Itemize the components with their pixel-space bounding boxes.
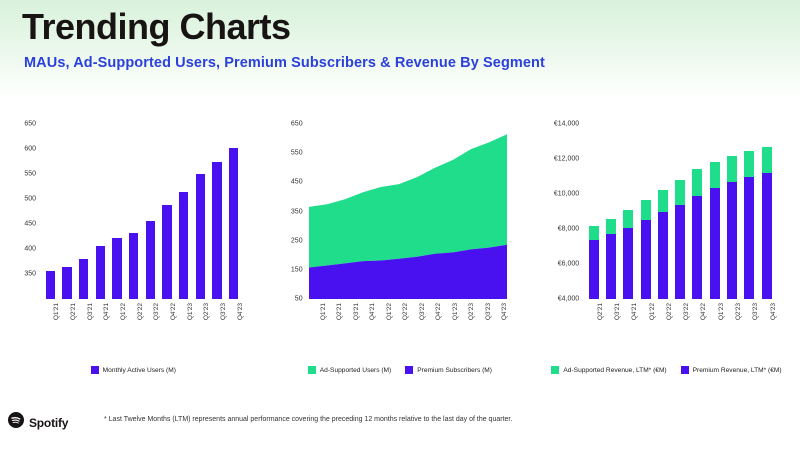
x-axis-tick-label: Q4'21	[369, 303, 376, 320]
bar	[162, 205, 172, 300]
bar-segment-ad-supported	[641, 200, 651, 220]
legend-swatch-icon	[405, 366, 413, 374]
bar	[46, 271, 56, 299]
slide-root: Trending Charts MAUs, Ad-Supported Users…	[0, 0, 800, 450]
bar	[212, 162, 222, 299]
x-axis-tick-label: Q2'23	[735, 303, 742, 320]
legend-label: Ad-Supported Revenue, LTM* (€M)	[563, 367, 666, 374]
bar-segment-ad-supported	[589, 226, 599, 241]
legend-item-ad-supported-revenue[interactable]: Ad-Supported Revenue, LTM* (€M)	[551, 366, 666, 374]
legend-swatch-icon	[551, 366, 559, 374]
charts-row: 350400450500550600650Q1'21Q2'21Q3'21Q4'2…	[0, 110, 800, 380]
plot-area-users-split: 50150250350450550650Q1'21Q2'21Q3'21Q4'21…	[309, 124, 507, 299]
x-axis-tick-label: Q3'21	[353, 303, 360, 320]
bar-segment-ad-supported	[744, 151, 754, 177]
y-axis-tick-label: 450	[0, 221, 36, 228]
bar-segment-ad-supported	[762, 147, 772, 174]
y-axis-tick-label: €8,000	[531, 226, 579, 233]
y-axis-tick-label: €12,000	[531, 156, 579, 163]
bar-segment-premium	[710, 188, 720, 299]
x-axis-tick-label: Q3'21	[87, 303, 94, 320]
chart-panel-users-split: 50150250350450550650Q1'21Q2'21Q3'21Q4'21…	[267, 110, 534, 380]
legend-revenue: Ad-Supported Revenue, LTM* (€M) Premium …	[533, 366, 800, 374]
bar-segment-premium	[762, 173, 772, 299]
bar-segment-ad-supported	[623, 210, 633, 228]
y-axis-tick-label: 450	[255, 179, 303, 186]
legend-item-premium-subscribers[interactable]: Premium Subscribers (M)	[405, 366, 492, 374]
x-axis-tick-label: Q3'21	[614, 303, 621, 320]
bar-segment-premium	[744, 177, 754, 299]
y-axis-tick-label: 50	[255, 296, 303, 303]
legend-label: Premium Revenue, LTM* (€M)	[693, 367, 782, 374]
bar-segment-ad-supported	[675, 180, 685, 205]
brand-lockup: Spotify	[8, 412, 68, 433]
y-axis-tick-label: €4,000	[531, 296, 579, 303]
bar-segment-premium	[606, 234, 616, 299]
legend-label: Premium Subscribers (M)	[417, 367, 492, 374]
y-axis-tick-label: 150	[255, 266, 303, 273]
x-axis-tick-label: Q3'23	[752, 303, 759, 320]
x-axis-tick-label: Q3'23	[485, 303, 492, 320]
legend-users-split: Ad-Supported Users (M) Premium Subscribe…	[267, 366, 534, 374]
bar-segment-ad-supported	[710, 162, 720, 188]
bar-segment-premium	[589, 240, 599, 299]
y-axis-tick-label: €10,000	[531, 191, 579, 198]
y-axis-tick-label: €14,000	[531, 121, 579, 128]
bar	[62, 267, 72, 300]
bar	[146, 221, 156, 299]
bar-segment-ad-supported	[606, 219, 616, 235]
bar	[229, 148, 239, 299]
legend-item-premium-revenue[interactable]: Premium Revenue, LTM* (€M)	[681, 366, 782, 374]
legend-swatch-icon	[681, 366, 689, 374]
plot-area-revenue: €4,000€6,000€8,000€10,000€12,000€14,000Q…	[585, 124, 775, 299]
x-axis-tick-label: Q1'22	[120, 303, 127, 320]
y-axis-tick-label: 650	[255, 121, 303, 128]
x-axis-tick-label: Q2'23	[468, 303, 475, 320]
x-axis-tick-label: Q4'22	[435, 303, 442, 320]
bar	[112, 238, 122, 299]
chart-panel-revenue: €4,000€6,000€8,000€10,000€12,000€14,000Q…	[533, 110, 800, 380]
chart-panel-mau: 350400450500550600650Q1'21Q2'21Q3'21Q4'2…	[0, 110, 267, 380]
bar	[196, 174, 206, 300]
x-axis-tick-label: Q3'22	[153, 303, 160, 320]
x-axis-tick-label: Q4'22	[700, 303, 707, 320]
x-axis-tick-label: Q4'23	[237, 303, 244, 320]
y-axis-tick-label: 550	[0, 171, 36, 178]
x-axis-tick-label: Q2'22	[666, 303, 673, 320]
x-axis-tick-label: Q1'23	[452, 303, 459, 320]
bar-segment-premium	[658, 212, 668, 299]
legend-mau: Monthly Active Users (M)	[0, 366, 267, 374]
x-axis-tick-label: Q1'23	[187, 303, 194, 320]
legend-swatch-icon	[308, 366, 316, 374]
x-axis-tick-label: Q2'22	[137, 303, 144, 320]
x-axis-tick-label: Q2'21	[597, 303, 604, 320]
bar-segment-premium	[623, 228, 633, 299]
legend-swatch-icon	[91, 366, 99, 374]
y-axis-tick-label: 350	[255, 208, 303, 215]
page-title: Trending Charts	[22, 6, 291, 48]
bar-segment-premium	[692, 196, 702, 299]
x-axis-tick-label: Q4'21	[631, 303, 638, 320]
bar-segment-ad-supported	[692, 169, 702, 196]
bar-segment-ad-supported	[727, 156, 737, 181]
x-axis-tick-label: Q2'22	[402, 303, 409, 320]
bar-segment-premium	[727, 182, 737, 299]
page-subtitle: MAUs, Ad-Supported Users, Premium Subscr…	[24, 55, 545, 71]
x-axis-tick-label: Q4'23	[770, 303, 777, 320]
x-axis-tick-label: Q2'21	[70, 303, 77, 320]
footnote-text: * Last Twelve Months (LTM) represents an…	[104, 416, 512, 423]
x-axis-tick-label: Q2'21	[336, 303, 343, 320]
y-axis-tick-label: €6,000	[531, 261, 579, 268]
slide-footer: Spotify * Last Twelve Months (LTM) repre…	[0, 394, 800, 450]
y-axis-tick-label: 500	[0, 196, 36, 203]
x-axis-tick-label: Q3'22	[683, 303, 690, 320]
bar-segment-premium	[675, 205, 685, 299]
legend-label: Monthly Active Users (M)	[103, 367, 176, 374]
bar-segment-ad-supported	[658, 190, 668, 212]
x-axis-tick-label: Q4'23	[501, 303, 508, 320]
x-axis-tick-label: Q2'23	[203, 303, 210, 320]
slide-header: Trending Charts MAUs, Ad-Supported Users…	[0, 0, 800, 100]
bar	[179, 192, 189, 300]
legend-item-ad-supported-users[interactable]: Ad-Supported Users (M)	[308, 366, 391, 374]
x-axis-tick-label: Q1'22	[386, 303, 393, 320]
y-axis-tick-label: 600	[0, 146, 36, 153]
legend-label: Ad-Supported Users (M)	[320, 367, 391, 374]
bar	[129, 233, 139, 300]
y-axis-tick-label: 550	[255, 150, 303, 157]
x-axis-tick-label: Q3'23	[220, 303, 227, 320]
bar	[96, 246, 106, 299]
plot-area-mau: 350400450500550600650Q1'21Q2'21Q3'21Q4'2…	[42, 124, 242, 299]
x-axis-tick-label: Q4'22	[170, 303, 177, 320]
y-axis-tick-label: 350	[0, 271, 36, 278]
stacked-area-svg	[309, 124, 507, 299]
legend-item-monthly-active-users[interactable]: Monthly Active Users (M)	[91, 366, 176, 374]
x-axis-tick-label: Q1'21	[53, 303, 60, 320]
area-ad-supported	[309, 134, 507, 267]
y-axis-tick-label: 650	[0, 121, 36, 128]
y-axis-tick-label: 250	[255, 237, 303, 244]
x-axis-tick-label: Q1'21	[320, 303, 327, 320]
x-axis-tick-label: Q4'21	[103, 303, 110, 320]
brand-name: Spotify	[29, 416, 68, 430]
x-axis-tick-label: Q1'23	[718, 303, 725, 320]
x-axis-tick-label: Q3'22	[419, 303, 426, 320]
spotify-logo-icon	[8, 412, 24, 433]
y-axis-tick-label: 400	[0, 246, 36, 253]
bar	[79, 259, 89, 300]
x-axis-tick-label: Q1'22	[649, 303, 656, 320]
bar-segment-premium	[641, 220, 651, 299]
